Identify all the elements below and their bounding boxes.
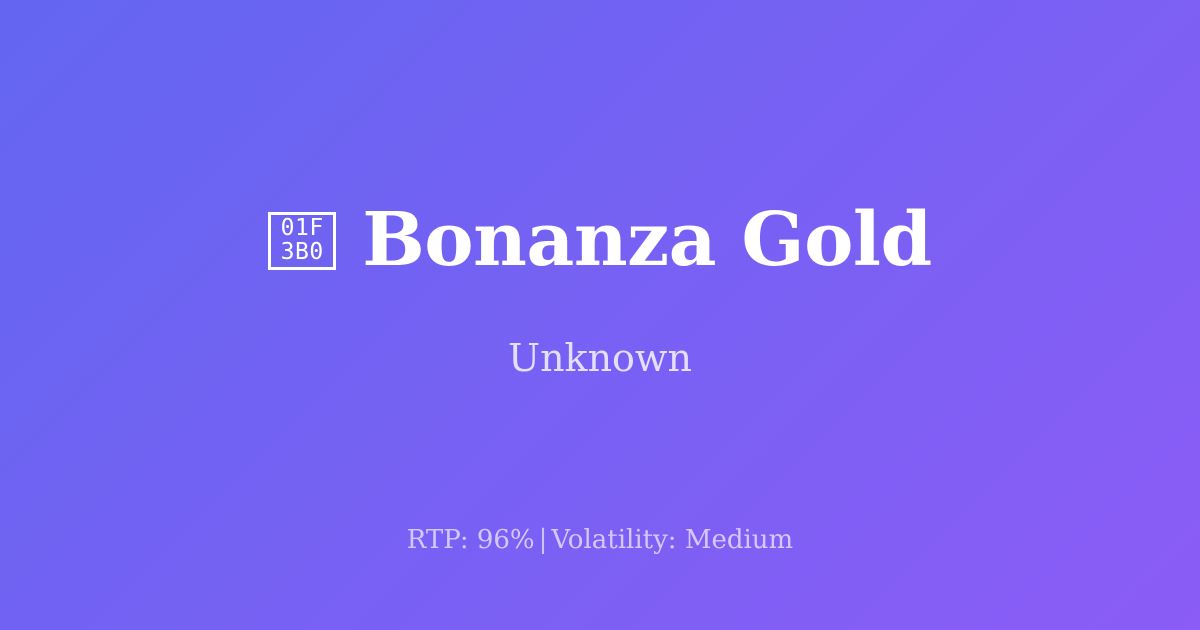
slot-machine-icon-codepoint-bottom: 3B0	[281, 241, 324, 265]
game-meta-footer: RTP: 96%|Volatility: Medium	[0, 525, 1200, 556]
slot-machine-icon: 01F 3B0	[268, 212, 336, 270]
rtp-value: RTP: 96%	[407, 525, 535, 555]
slot-machine-icon-codepoint-top: 01F	[281, 217, 324, 241]
volatility-value: Volatility: Medium	[551, 525, 793, 555]
title-row: 01F 3B0 Bonanza Gold	[268, 202, 932, 280]
meta-separator: |	[535, 525, 552, 555]
page-title: Bonanza Gold	[362, 202, 932, 280]
provider-subtitle: Unknown	[508, 336, 692, 382]
game-preview-card: 01F 3B0 Bonanza Gold Unknown RTP: 96%|Vo…	[0, 0, 1200, 630]
